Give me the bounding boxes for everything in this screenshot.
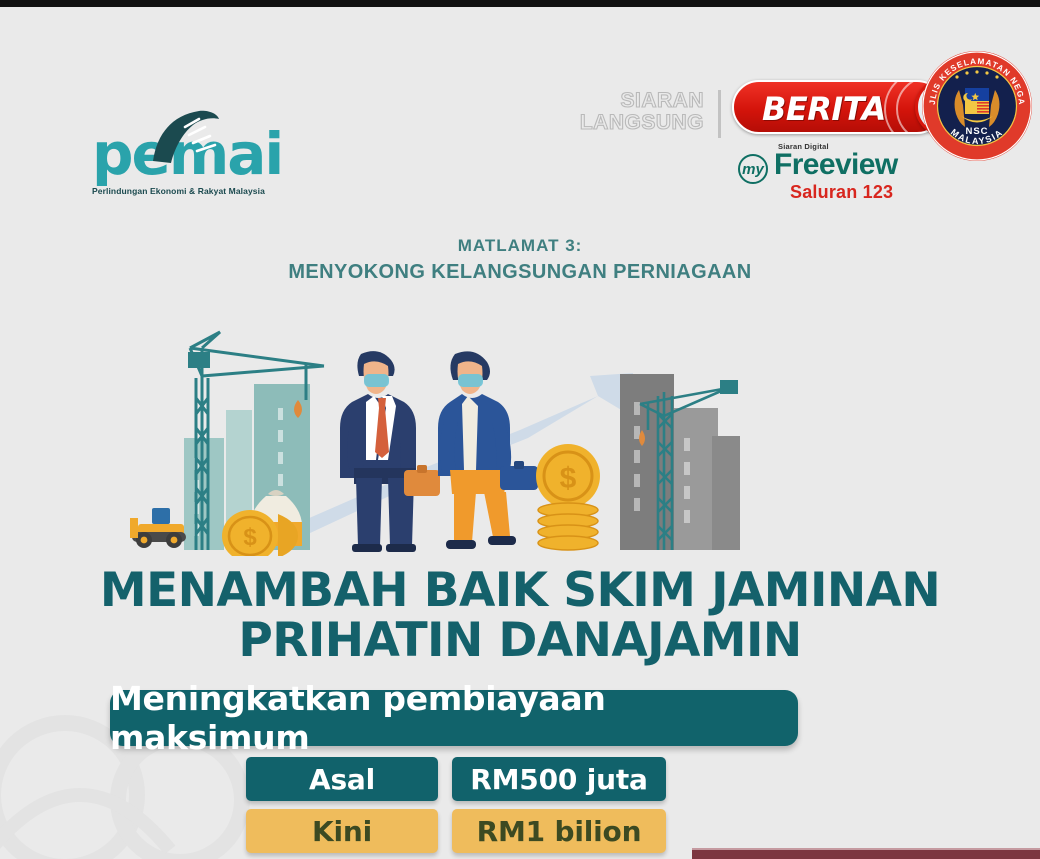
- broadcast-slide: pemai Perlindungan Ekonomi & Rakyat Mala…: [0, 0, 1040, 859]
- table-row: Asal RM500 juta: [246, 757, 666, 801]
- myfreeview-badge: my Siaran Digital Freeview Saluran 123: [738, 142, 948, 204]
- freeview-wordmark: Freeview: [774, 150, 898, 180]
- comparison-label-kini: Kini: [246, 809, 438, 853]
- letterbox-top-band: [0, 0, 1040, 7]
- lower-third-bar: [692, 848, 1040, 859]
- goal-label: MATLAMAT 3:: [0, 236, 1040, 256]
- pemai-tagline: Perlindungan Ekonomi & Rakyat Malaysia: [92, 186, 292, 196]
- goal-heading: MATLAMAT 3: MENYOKONG KELANGSUNGAN PERNI…: [0, 236, 1040, 284]
- page-title-line2: PRIHATIN DANAJAMIN: [0, 616, 1040, 666]
- businessman-left: [340, 351, 440, 552]
- subtitle-text: Meningkatkan pembiayaan maksimum: [110, 679, 798, 757]
- live-label-line1: SIARAN: [576, 90, 704, 112]
- subtitle-banner: Meningkatkan pembiayaan maksimum: [110, 690, 798, 746]
- svg-text:NSC: NSC: [965, 126, 988, 137]
- svg-text:$: $: [560, 462, 577, 495]
- pemai-leaf-icon: [147, 109, 221, 167]
- badge-divider: [718, 90, 721, 138]
- table-row: Kini RM1 bilion: [246, 809, 666, 853]
- businessman-right: [438, 351, 538, 549]
- live-broadcast-label: SIARAN LANGSUNG: [576, 90, 704, 134]
- comparison-value-asal: RM500 juta: [452, 757, 666, 801]
- berita-wordmark: BERITA: [762, 90, 886, 128]
- page-title: MENAMBAH BAIK SKIM JAMINAN PRIHATIN DANA…: [0, 566, 1040, 667]
- page-title-line1: MENAMBAH BAIK SKIM JAMINAN: [0, 566, 1040, 616]
- berita-channel-badge: BERITA: [732, 80, 944, 134]
- goal-title: MENYOKONG KELANGSUNGAN PERNIAGAAN: [0, 261, 1040, 284]
- nsc-seal-emblem: MAJLIS KESELAMATAN NEGARA MALAYSIA: [921, 50, 1033, 162]
- comparison-value-kini: RM1 bilion: [452, 809, 666, 853]
- pemai-logo: pemai Perlindungan Ekonomi & Rakyat Mala…: [92, 125, 292, 217]
- coin-stack-right: $: [536, 444, 600, 550]
- bulldozer-icon: [130, 508, 186, 548]
- freeview-channel-number: Saluran 123: [790, 182, 893, 203]
- svg-text:$: $: [243, 524, 257, 551]
- myfreeview-my-icon: my: [738, 154, 768, 184]
- business-construction-illustration: $: [128, 318, 740, 556]
- comparison-label-asal: Asal: [246, 757, 438, 801]
- live-label-line2: LANGSUNG: [576, 112, 704, 134]
- comparison-table: Asal RM500 juta Kini RM1 bilion: [246, 757, 666, 859]
